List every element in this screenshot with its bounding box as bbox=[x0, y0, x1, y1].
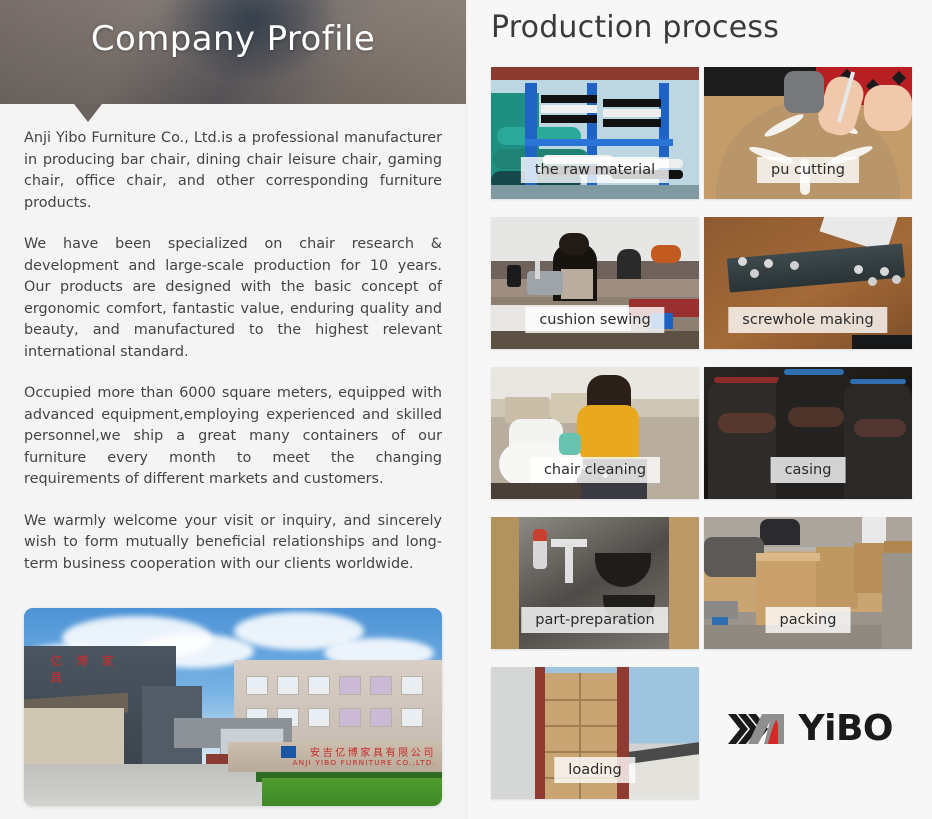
process-caption: part-preparation bbox=[521, 607, 668, 633]
paragraph-welcome: We warmly welcome your visit or inquiry,… bbox=[24, 511, 442, 576]
process-caption: pu cutting bbox=[757, 157, 859, 183]
process-card-chair-cleaning[interactable]: chair cleaning bbox=[491, 367, 699, 499]
wall-logo-mark-icon bbox=[281, 746, 296, 758]
paragraph-intro: Anji Yibo Furniture Co., Ltd.is a profes… bbox=[24, 128, 442, 214]
factory-exterior-photo: 亿 博 家 具 安吉亿博家具有限公司 ANJI YIBO FURNITURE C… bbox=[24, 608, 442, 806]
triangle-down-icon bbox=[74, 104, 102, 122]
process-caption: chair cleaning bbox=[530, 457, 660, 483]
process-caption: cushion sewing bbox=[525, 307, 664, 333]
process-card-screwhole-making[interactable]: screwhole making bbox=[704, 217, 912, 349]
process-caption: loading bbox=[554, 757, 635, 783]
production-process-grid: the raw material pu cutting bbox=[491, 67, 912, 799]
lawn bbox=[262, 778, 442, 806]
left-panel-company-profile: Company Profile Anji Yibo Furniture Co.,… bbox=[0, 0, 466, 819]
paragraph-specialization: We have been specialized on chair resear… bbox=[24, 234, 442, 363]
wall-sign-en: ANJI YIBO FURNITURE CO.,LTD. bbox=[292, 758, 436, 767]
panel-divider bbox=[466, 0, 467, 819]
process-caption: casing bbox=[771, 457, 846, 483]
process-caption: screwhole making bbox=[728, 307, 887, 333]
process-card-raw-material[interactable]: the raw material bbox=[491, 67, 699, 199]
company-description: Anji Yibo Furniture Co., Ltd.is a profes… bbox=[24, 128, 442, 575]
company-profile-page: Company Profile Anji Yibo Furniture Co.,… bbox=[0, 0, 932, 819]
gatehouse-building bbox=[24, 708, 124, 768]
yibo-logo: YiBO bbox=[728, 706, 893, 752]
production-process-title: Production process bbox=[491, 10, 779, 45]
process-card-loading[interactable]: loading bbox=[491, 667, 699, 799]
process-card-packing[interactable]: packing bbox=[704, 517, 912, 649]
page-title: Company Profile bbox=[0, 19, 466, 59]
company-profile-banner: Company Profile bbox=[0, 0, 466, 104]
building-sign-cn: 亿 博 家 具 bbox=[50, 652, 144, 668]
paragraph-facility: Occupied more than 6000 square meters, e… bbox=[24, 383, 442, 491]
wall-sign-cn: 安吉亿博家具有限公司 bbox=[310, 744, 436, 759]
process-card-part-preparation[interactable]: part-preparation bbox=[491, 517, 699, 649]
process-caption: packing bbox=[766, 607, 851, 633]
yibo-chevron-logo-icon bbox=[728, 708, 791, 750]
process-caption: the raw material bbox=[521, 157, 669, 183]
process-card-casing[interactable]: casing bbox=[704, 367, 912, 499]
process-card-cushion-sewing[interactable]: cushion sewing bbox=[491, 217, 699, 349]
process-card-pu-cutting[interactable]: pu cutting bbox=[704, 67, 912, 199]
yibo-logo-text: YiBO bbox=[799, 711, 893, 747]
